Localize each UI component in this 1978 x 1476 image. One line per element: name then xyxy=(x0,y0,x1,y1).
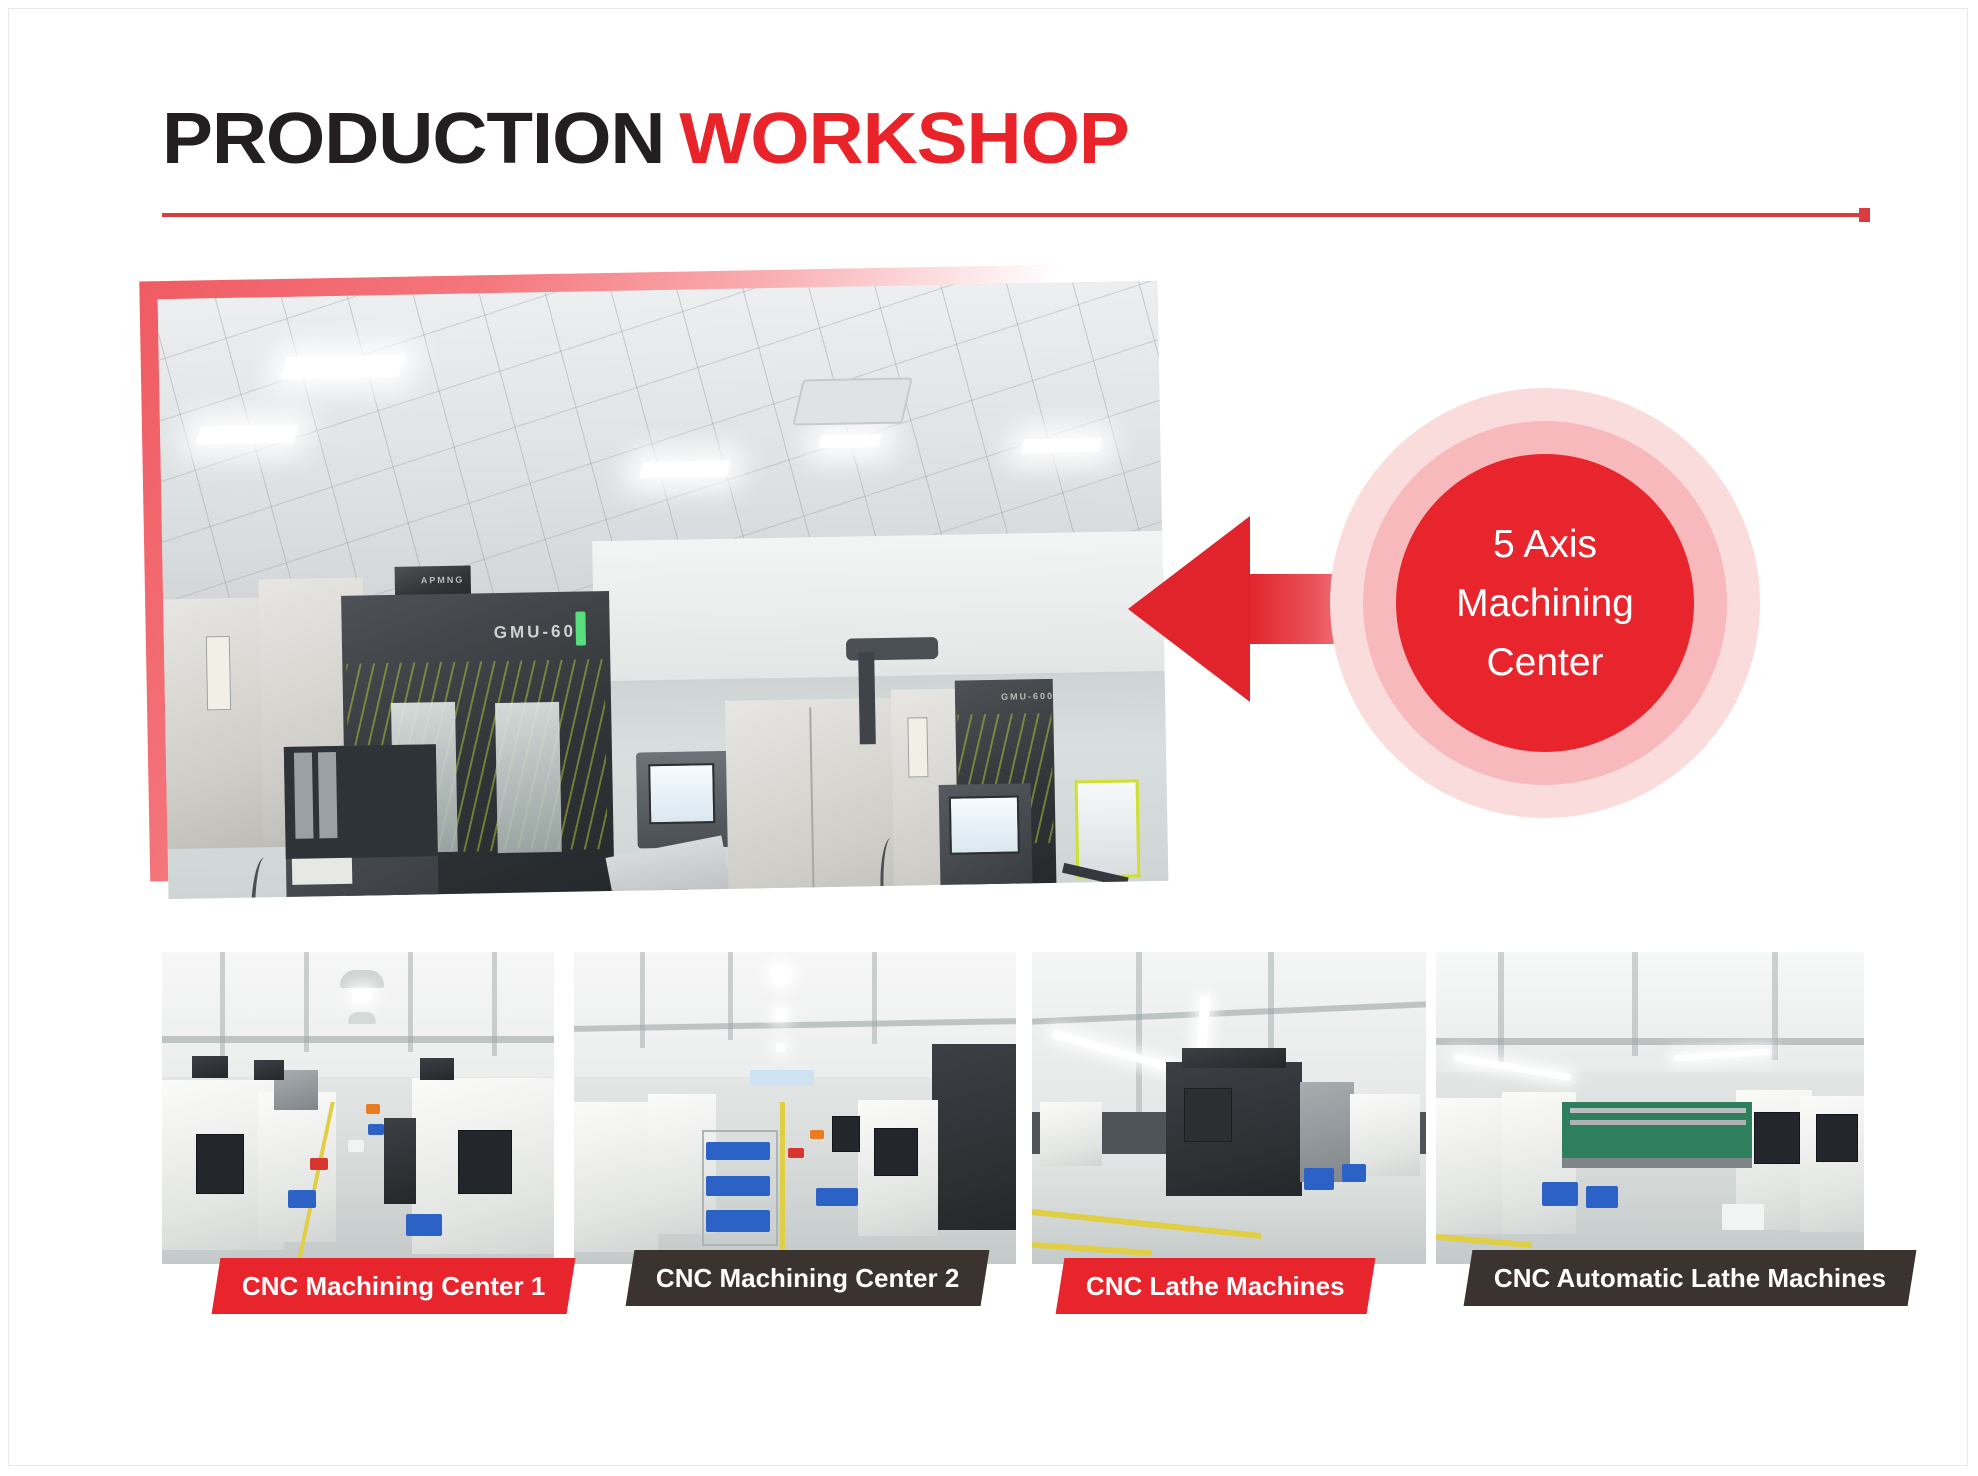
thumb4-column xyxy=(1498,952,1504,1064)
thumb4-parts-bin xyxy=(1586,1186,1618,1208)
badge-text: 5 Axis Machining Center xyxy=(1456,515,1634,692)
kiosk-logo-right xyxy=(1017,891,1036,899)
thumb3-lathe-machine-top xyxy=(1182,1048,1286,1068)
thumb4-parts-bin xyxy=(1542,1182,1578,1206)
ceiling-lamp xyxy=(195,425,299,445)
caption-4-label: CNC Automatic Lathe Machines xyxy=(1468,1263,1912,1294)
thumbnail-caption-3: CNC Lathe Machines xyxy=(1056,1258,1375,1314)
thumb4-machine-panel xyxy=(1816,1114,1858,1162)
machine-model-label-right: GMU-600 xyxy=(1001,691,1054,702)
thumb1-overhead-unit xyxy=(254,1060,284,1080)
thumb2-parts-bin xyxy=(816,1188,858,1206)
thumb4-machine-panel xyxy=(1754,1112,1800,1164)
machine-status-light xyxy=(575,611,586,645)
divider-line xyxy=(162,213,1870,217)
thumb1-parts-bin xyxy=(366,1104,380,1114)
coiled-cable xyxy=(686,889,716,899)
slide-page: PRODUCTIONWORKSHOP xyxy=(0,0,1978,1476)
thumb2-column xyxy=(728,952,733,1040)
thumb2-ceiling-lamp xyxy=(774,1008,788,1022)
thumb1-parts-bin xyxy=(406,1214,442,1236)
thumb3-parts-bin xyxy=(1342,1164,1366,1182)
kiosk-rack-slot xyxy=(318,752,338,838)
thumb2-ceiling-lamp xyxy=(770,964,792,986)
thumb2-machine-dark-right xyxy=(932,1044,1016,1230)
thumb1-parts-bin xyxy=(288,1190,316,1208)
thumb1-column xyxy=(304,952,309,1052)
badge-line-2: Machining xyxy=(1456,574,1634,633)
thumb3-column xyxy=(1136,952,1142,1112)
thumbnail-caption-2: CNC Machining Center 2 xyxy=(626,1250,990,1306)
thumb4-column xyxy=(1772,952,1778,1060)
thumbnail-caption-4: CNC Automatic Lathe Machines xyxy=(1464,1250,1917,1306)
thumb2-column xyxy=(872,952,877,1044)
thumb2-signage xyxy=(750,1070,814,1086)
arrow-head xyxy=(1128,516,1250,702)
page-title-dark: PRODUCTION xyxy=(162,99,664,179)
thumb2-aisle-marking xyxy=(780,1102,785,1262)
caption-2-label: CNC Machining Center 2 xyxy=(630,1263,985,1294)
thumb2-machine-screen-2 xyxy=(832,1116,860,1152)
callout-badge: 5 Axis Machining Center xyxy=(1330,388,1760,818)
operator-console-screen xyxy=(648,763,715,824)
thumb1-pendant-lamp-far xyxy=(348,1012,376,1024)
thumb2-parts-bin xyxy=(706,1176,770,1196)
thumb1-pendant-lamp xyxy=(340,970,384,988)
thumb1-overhead-unit xyxy=(420,1058,454,1080)
thumb1-parts-bin xyxy=(348,1140,364,1152)
page-header: PRODUCTIONWORKSHOP xyxy=(162,96,1862,186)
thumb1-column xyxy=(220,952,225,1060)
hero-photo: GMU-600 APMNG GMU-600 xyxy=(158,281,1169,899)
page-title: PRODUCTIONWORKSHOP xyxy=(162,96,1964,182)
machine-window-right xyxy=(495,702,562,853)
kiosk-tray xyxy=(292,858,352,885)
thumb1-parts-bin xyxy=(368,1124,384,1135)
thumbnail-caption-1: CNC Machining Center 1 xyxy=(212,1258,576,1314)
thumb4-bar-feeder-rail xyxy=(1562,1158,1752,1168)
thumbnail-photo-4 xyxy=(1436,952,1864,1264)
title-divider xyxy=(162,208,1870,222)
ceiling-lamp xyxy=(280,355,405,379)
badge-line-1: 5 Axis xyxy=(1456,515,1634,574)
thumbnail-photo-2 xyxy=(574,952,1016,1264)
thumbnail-photo-3 xyxy=(1032,952,1426,1264)
thumb1-machine-right-dark xyxy=(384,1118,416,1204)
far-pendant-screen xyxy=(1075,779,1141,878)
ceiling-ac-vent xyxy=(792,377,913,425)
divider-end-cap xyxy=(1859,208,1870,222)
machine-brand-label: APMNG xyxy=(421,575,465,586)
ceiling-lamp xyxy=(639,461,731,479)
page-title-red: WORKSHOP xyxy=(679,99,1128,179)
ceiling-lamp xyxy=(1021,438,1102,453)
ceiling-lamp xyxy=(819,434,882,448)
thumb3-machine-left-far xyxy=(1040,1102,1102,1166)
kiosk-screen-right xyxy=(949,796,1020,855)
badge-line-3: Center xyxy=(1456,633,1634,692)
thumb1-column xyxy=(408,952,413,1052)
thumb1-parts-bin xyxy=(310,1158,328,1170)
thumb3-parts-bin xyxy=(1304,1168,1334,1190)
thumb2-parts-bin xyxy=(788,1148,804,1158)
thumb3-machine-access-panel xyxy=(1184,1088,1232,1142)
thumb4-bar-stock xyxy=(1570,1120,1746,1125)
thumb2-parts-bin xyxy=(706,1210,770,1232)
thumb4-column xyxy=(1632,952,1638,1056)
thumb2-machine-left xyxy=(574,1102,658,1252)
thumb4-parts-bin xyxy=(1722,1204,1764,1230)
thumb1-overhead-unit xyxy=(192,1056,228,1078)
badge-core: 5 Axis Machining Center xyxy=(1396,454,1694,752)
machine-model-label: GMU-600 xyxy=(494,621,589,643)
thumb1-machine-right-panel xyxy=(458,1130,512,1194)
machine-gantry-post xyxy=(858,652,876,744)
cabinet-sticker xyxy=(907,717,928,777)
thumb1-lamp-glow xyxy=(352,988,372,1002)
hero-photo-frame: GMU-600 APMNG GMU-600 xyxy=(158,281,1169,899)
thumb2-ceiling-lamp xyxy=(776,1042,786,1052)
thumb2-parts-bin xyxy=(706,1142,770,1160)
thumb1-machine-left-panel xyxy=(196,1134,244,1194)
thumb2-parts-bin xyxy=(810,1130,824,1139)
thumb4-bar-stock xyxy=(1570,1108,1746,1113)
machine-warning-sticker xyxy=(206,636,231,710)
thumb1-column xyxy=(492,952,497,1056)
kiosk-rack-slot xyxy=(294,752,314,838)
thumb2-column xyxy=(640,952,645,1048)
caption-1-label: CNC Machining Center 1 xyxy=(216,1271,571,1302)
thumbnail-photo-1 xyxy=(162,952,554,1264)
thumb2-machine-screen xyxy=(874,1128,918,1176)
caption-3-label: CNC Lathe Machines xyxy=(1060,1271,1371,1302)
